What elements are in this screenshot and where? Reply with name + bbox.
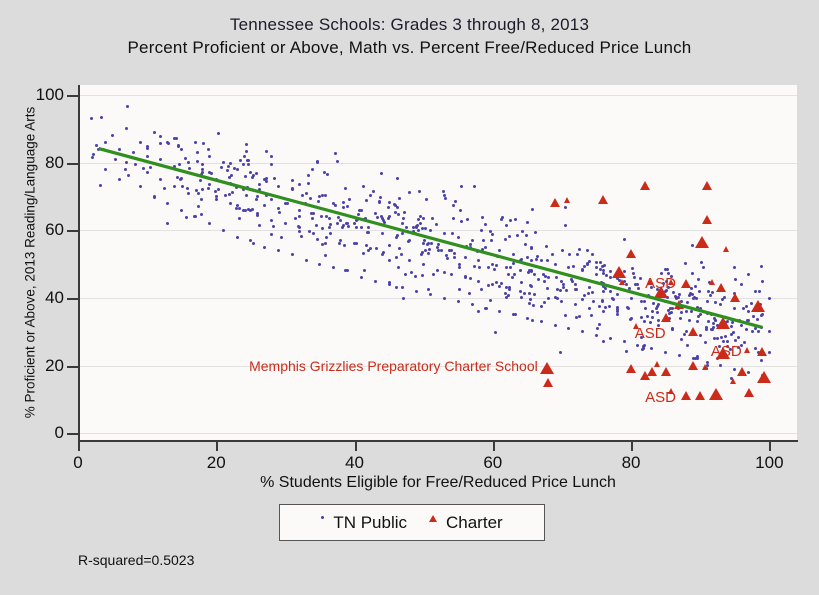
- data-point-tn-public: [265, 180, 268, 183]
- data-point-tn-public: [388, 281, 391, 284]
- x-tick-label: 100: [739, 453, 799, 473]
- data-point-tn-public: [533, 293, 536, 296]
- data-point-tn-public: [482, 239, 485, 242]
- data-point-tn-public: [511, 276, 514, 279]
- data-point-tn-public: [236, 236, 239, 239]
- data-point-tn-public: [491, 233, 494, 236]
- data-point-tn-public: [202, 142, 205, 145]
- data-point-tn-public: [484, 246, 487, 249]
- data-point-tn-public: [324, 194, 327, 197]
- data-point-tn-public: [134, 163, 137, 166]
- data-point-tn-public: [730, 325, 733, 328]
- data-point-tn-public: [757, 330, 760, 333]
- data-point-tn-public: [602, 290, 605, 293]
- data-point-tn-public: [498, 310, 501, 313]
- data-point-tn-public: [602, 269, 605, 272]
- data-point-charter: [674, 300, 684, 309]
- data-point-tn-public: [367, 231, 370, 234]
- data-point-tn-public: [602, 340, 605, 343]
- data-point-tn-public: [526, 317, 529, 320]
- data-point-tn-public: [481, 216, 484, 219]
- chart-title: Tennessee Schools: Grades 3 through 8, 2…: [0, 14, 819, 36]
- data-point-tn-public: [372, 190, 375, 193]
- data-point-tn-public: [609, 290, 612, 293]
- data-point-tn-public: [270, 163, 273, 166]
- data-point-charter: [550, 198, 560, 207]
- data-point-tn-public: [740, 283, 743, 286]
- data-point-tn-public: [422, 242, 425, 245]
- data-point-tn-public: [309, 197, 312, 200]
- data-point-tn-public: [719, 364, 722, 367]
- data-point-tn-public: [464, 256, 467, 259]
- data-point-tn-public: [756, 318, 759, 321]
- data-point-tn-public: [623, 238, 626, 241]
- data-point-tn-public: [745, 305, 748, 308]
- data-point-tn-public: [513, 273, 516, 276]
- data-point-tn-public: [437, 243, 440, 246]
- data-point-tn-public: [628, 287, 631, 290]
- data-point-tn-public: [737, 336, 740, 339]
- data-point-tn-public: [554, 324, 557, 327]
- data-point-tn-public: [476, 250, 479, 253]
- data-point-tn-public: [256, 214, 259, 217]
- data-point-tn-public: [761, 280, 764, 283]
- data-point-charter: [744, 388, 754, 397]
- data-point-tn-public: [555, 276, 558, 279]
- data-point-tn-public: [646, 315, 649, 318]
- data-point-charter: [681, 279, 691, 288]
- data-point-tn-public: [362, 185, 365, 188]
- y-axis-tick: [67, 230, 78, 232]
- data-point-charter: [543, 378, 553, 387]
- data-point-tn-public: [595, 266, 598, 269]
- data-point-tn-public: [184, 157, 187, 160]
- data-point-tn-public: [208, 183, 211, 186]
- data-point-tn-public: [509, 219, 512, 222]
- data-point-tn-public: [495, 264, 498, 267]
- data-point-tn-public: [265, 150, 268, 153]
- data-point-tn-public: [731, 321, 734, 324]
- data-point-tn-public: [491, 283, 494, 286]
- data-point-tn-public: [258, 224, 261, 227]
- chart-title-block: Tennessee Schools: Grades 3 through 8, 2…: [0, 14, 819, 60]
- data-point-tn-public: [625, 350, 628, 353]
- data-point-tn-public: [222, 161, 225, 164]
- data-point-tn-public: [754, 290, 757, 293]
- data-point-tn-public: [346, 205, 349, 208]
- data-point-tn-public: [598, 305, 601, 308]
- data-point-tn-public: [664, 268, 667, 271]
- data-point-tn-public: [719, 303, 722, 306]
- data-point-tn-public: [286, 202, 289, 205]
- data-point-tn-public: [709, 294, 712, 297]
- data-point-tn-public: [360, 276, 363, 279]
- data-point-tn-public: [443, 271, 446, 274]
- x-tick-label: 40: [325, 453, 385, 473]
- y-axis-tick: [67, 298, 78, 300]
- data-point-tn-public: [421, 274, 424, 277]
- data-point-tn-public: [342, 224, 345, 227]
- data-point-tn-public: [369, 247, 372, 250]
- data-point-tn-public: [576, 253, 579, 256]
- data-point-tn-public: [453, 252, 456, 255]
- data-point-charter: [619, 279, 625, 285]
- data-point-tn-public: [459, 209, 462, 212]
- x-axis-tick: [493, 441, 495, 451]
- data-point-tn-public: [265, 177, 268, 180]
- data-point-tn-public: [505, 224, 508, 227]
- data-point-tn-public: [356, 218, 359, 221]
- data-point-tn-public: [546, 259, 549, 262]
- data-point-tn-public: [320, 215, 323, 218]
- data-point-tn-public: [365, 199, 368, 202]
- data-point-tn-public: [375, 247, 378, 250]
- data-point-tn-public: [458, 266, 461, 269]
- data-point-tn-public: [336, 222, 339, 225]
- data-point-tn-public: [581, 298, 584, 301]
- data-point-tn-public: [379, 196, 382, 199]
- data-point-tn-public: [374, 280, 377, 283]
- data-point-charter: [757, 371, 771, 383]
- data-point-tn-public: [159, 178, 162, 181]
- data-point-tn-public: [153, 131, 156, 134]
- data-point-tn-public: [173, 185, 176, 188]
- data-point-tn-public: [586, 249, 589, 252]
- data-point-tn-public: [696, 320, 699, 323]
- data-point-tn-public: [691, 272, 694, 275]
- data-point-tn-public: [200, 198, 203, 201]
- data-point-tn-public: [601, 300, 604, 303]
- data-point-tn-public: [201, 163, 204, 166]
- data-point-tn-public: [435, 223, 438, 226]
- data-point-tn-public: [494, 331, 497, 334]
- data-point-tn-public: [367, 226, 370, 229]
- data-point-tn-public: [334, 152, 337, 155]
- data-point-tn-public: [450, 273, 453, 276]
- data-point-tn-public: [632, 272, 635, 275]
- data-point-tn-public: [590, 314, 593, 317]
- data-point-tn-public: [490, 239, 493, 242]
- data-point-charter: [626, 249, 636, 258]
- data-point-tn-public: [291, 253, 294, 256]
- data-point-tn-public: [394, 204, 397, 207]
- data-point-tn-public: [489, 299, 492, 302]
- data-point-tn-public: [388, 259, 391, 262]
- data-point-tn-public: [521, 230, 524, 233]
- data-point-tn-public: [228, 193, 231, 196]
- data-point-tn-public: [688, 319, 691, 322]
- data-point-tn-public: [468, 292, 471, 295]
- data-point-tn-public: [387, 217, 390, 220]
- data-point-tn-public: [680, 338, 683, 341]
- data-point-tn-public: [201, 188, 204, 191]
- data-point-tn-public: [498, 285, 501, 288]
- y-axis-tick: [67, 95, 78, 97]
- data-point-tn-public: [578, 248, 581, 251]
- data-point-tn-public: [146, 145, 149, 148]
- data-point-tn-public: [545, 245, 548, 248]
- data-point-tn-public: [344, 187, 347, 190]
- data-point-charter: [540, 362, 554, 374]
- data-point-charter: [688, 327, 698, 336]
- data-point-tn-public: [125, 161, 128, 164]
- data-point-tn-public: [424, 249, 427, 252]
- data-point-tn-public: [629, 318, 632, 321]
- data-point-tn-public: [458, 288, 461, 291]
- data-point-charter: [716, 317, 730, 329]
- data-point-tn-public: [324, 254, 327, 257]
- data-point-tn-public: [543, 280, 546, 283]
- data-point-tn-public: [742, 307, 745, 310]
- data-point-tn-public: [178, 163, 181, 166]
- y-axis-tick: [67, 433, 78, 435]
- data-point-tn-public: [655, 307, 658, 310]
- data-point-tn-public: [187, 161, 190, 164]
- data-point-tn-public: [338, 242, 341, 245]
- data-point-tn-public: [591, 253, 594, 256]
- annotation-asd: ASD: [711, 343, 742, 360]
- data-point-tn-public: [348, 198, 351, 201]
- data-point-tn-public: [308, 230, 311, 233]
- data-point-tn-public: [417, 218, 420, 221]
- data-point-tn-public: [406, 230, 409, 233]
- data-point-tn-public: [734, 339, 737, 342]
- data-point-tn-public: [382, 251, 385, 254]
- data-point-charter: [695, 391, 705, 400]
- data-point-tn-public: [291, 179, 294, 182]
- data-point-tn-public: [599, 261, 602, 264]
- data-point-tn-public: [153, 196, 156, 199]
- data-point-tn-public: [639, 277, 642, 280]
- data-point-charter: [681, 391, 691, 400]
- data-point-tn-public: [429, 293, 432, 296]
- data-point-tn-public: [705, 311, 708, 314]
- data-point-tn-public: [713, 337, 716, 340]
- data-point-tn-public: [609, 337, 612, 340]
- data-point-tn-public: [697, 278, 700, 281]
- data-point-tn-public: [196, 160, 199, 163]
- data-point-tn-public: [176, 176, 179, 179]
- data-point-tn-public: [181, 185, 184, 188]
- data-point-tn-public: [758, 290, 761, 293]
- data-point-tn-public: [185, 216, 188, 219]
- data-point-tn-public: [194, 141, 197, 144]
- data-point-tn-public: [469, 246, 472, 249]
- data-point-tn-public: [575, 288, 578, 291]
- data-point-tn-public: [197, 205, 200, 208]
- data-point-tn-public: [520, 281, 523, 284]
- data-point-tn-public: [273, 177, 276, 180]
- data-point-tn-public: [398, 247, 401, 250]
- data-point-tn-public: [180, 209, 183, 212]
- data-point-tn-public: [326, 173, 329, 176]
- data-point-tn-public: [360, 226, 363, 229]
- data-point-tn-public: [321, 227, 324, 230]
- data-point-tn-public: [568, 253, 571, 256]
- data-point-tn-public: [402, 217, 405, 220]
- data-point-tn-public: [403, 211, 406, 214]
- data-point-tn-public: [487, 266, 490, 269]
- data-point-tn-public: [514, 313, 517, 316]
- data-point-tn-public: [430, 242, 433, 245]
- data-point-tn-public: [485, 307, 488, 310]
- data-point-tn-public: [523, 292, 526, 295]
- data-point-tn-public: [616, 293, 619, 296]
- data-point-tn-public: [721, 298, 724, 301]
- data-point-tn-public: [265, 194, 268, 197]
- data-point-tn-public: [362, 218, 365, 221]
- data-point-tn-public: [298, 230, 301, 233]
- data-point-tn-public: [531, 319, 534, 322]
- data-point-tn-public: [704, 341, 707, 344]
- data-point-tn-public: [747, 371, 750, 374]
- data-point-tn-public: [179, 178, 182, 181]
- data-point-tn-public: [747, 273, 750, 276]
- data-point-tn-public: [311, 168, 314, 171]
- data-point-tn-public: [481, 248, 484, 251]
- data-point-tn-public: [376, 216, 379, 219]
- data-point-tn-public: [444, 197, 447, 200]
- data-point-tn-public: [132, 151, 135, 154]
- x-axis-tick: [355, 441, 357, 451]
- data-point-tn-public: [525, 234, 528, 237]
- data-point-tn-public: [307, 174, 310, 177]
- x-axis-label: % Students Eligible for Free/Reduced Pri…: [78, 474, 798, 492]
- data-point-tn-public: [528, 292, 531, 295]
- data-point-charter: [640, 371, 650, 380]
- data-point-tn-public: [745, 328, 748, 331]
- data-point-tn-public: [586, 263, 589, 266]
- data-point-tn-public: [697, 315, 700, 318]
- data-point-tn-public: [277, 185, 280, 188]
- data-point-tn-public: [644, 307, 647, 310]
- data-point-tn-public: [255, 172, 258, 175]
- data-point-tn-public: [514, 218, 517, 221]
- data-point-tn-public: [547, 297, 550, 300]
- data-point-tn-public: [378, 201, 381, 204]
- data-point-tn-public: [270, 219, 273, 222]
- data-point-tn-public: [159, 158, 162, 161]
- data-point-tn-public: [656, 311, 659, 314]
- data-point-tn-public: [395, 286, 398, 289]
- data-point-tn-public: [92, 153, 95, 156]
- data-point-tn-public: [633, 276, 636, 279]
- data-point-tn-public: [429, 229, 432, 232]
- data-point-tn-public: [400, 253, 403, 256]
- data-point-tn-public: [242, 188, 245, 191]
- data-point-tn-public: [649, 321, 652, 324]
- data-point-tn-public: [565, 289, 568, 292]
- data-point-tn-public: [714, 301, 717, 304]
- data-point-tn-public: [208, 155, 211, 158]
- y-axis-tick: [67, 163, 78, 165]
- data-point-tn-public: [600, 281, 603, 284]
- data-point-tn-public: [706, 300, 709, 303]
- data-point-tn-public: [551, 253, 554, 256]
- data-point-tn-public: [529, 298, 532, 301]
- data-point-tn-public: [559, 351, 562, 354]
- data-point-tn-public: [640, 300, 643, 303]
- data-point-tn-public: [567, 266, 570, 269]
- data-point-tn-public: [324, 242, 327, 245]
- data-point-tn-public: [512, 262, 515, 265]
- data-point-tn-public: [529, 284, 532, 287]
- data-point-tn-public: [454, 200, 457, 203]
- data-point-tn-public: [227, 165, 230, 168]
- data-point-tn-public: [353, 222, 356, 225]
- data-point-tn-public: [427, 288, 430, 291]
- data-point-tn-public: [540, 259, 543, 262]
- data-point-tn-public: [768, 330, 771, 333]
- data-point-tn-public: [738, 319, 741, 322]
- data-point-tn-public: [363, 269, 366, 272]
- data-point-tn-public: [556, 297, 559, 300]
- data-point-tn-public: [507, 273, 510, 276]
- data-point-tn-public: [616, 313, 619, 316]
- data-point-tn-public: [493, 268, 496, 271]
- data-point-tn-public: [167, 142, 170, 145]
- y-axis-tick: [67, 366, 78, 368]
- data-point-tn-public: [694, 285, 697, 288]
- data-point-tn-public: [139, 185, 142, 188]
- data-point-tn-public: [724, 335, 727, 338]
- data-point-tn-public: [251, 176, 254, 179]
- data-point-tn-public: [222, 229, 225, 232]
- data-point-tn-public: [707, 320, 710, 323]
- data-point-tn-public: [124, 168, 127, 171]
- data-point-tn-public: [355, 242, 358, 245]
- data-point-tn-public: [440, 249, 443, 252]
- data-point-tn-public: [595, 334, 598, 337]
- data-point-tn-public: [263, 204, 266, 207]
- data-point-charter: [744, 347, 750, 353]
- data-point-tn-public: [159, 142, 162, 145]
- data-point-tn-public: [208, 222, 211, 225]
- data-point-tn-public: [408, 191, 411, 194]
- data-point-tn-public: [270, 233, 273, 236]
- data-point-tn-public: [477, 280, 480, 283]
- data-point-tn-public: [464, 275, 467, 278]
- data-point-charter: [723, 246, 729, 252]
- data-point-tn-public: [388, 201, 391, 204]
- data-point-tn-public: [512, 253, 515, 256]
- data-point-tn-public: [495, 281, 498, 284]
- data-point-tn-public: [226, 169, 229, 172]
- data-point-tn-public: [200, 213, 203, 216]
- data-point-tn-public: [477, 310, 480, 313]
- data-point-tn-public: [477, 259, 480, 262]
- data-point-tn-public: [664, 351, 667, 354]
- data-point-tn-public: [561, 249, 564, 252]
- data-point-tn-public: [417, 229, 420, 232]
- data-point-tn-public: [404, 273, 407, 276]
- data-point-tn-public: [471, 303, 474, 306]
- data-point-charter: [751, 300, 765, 312]
- data-point-tn-public: [436, 269, 439, 272]
- data-point-tn-public: [186, 187, 189, 190]
- data-point-tn-public: [466, 218, 469, 221]
- data-point-tn-public: [146, 155, 149, 158]
- data-point-tn-public: [595, 273, 598, 276]
- data-point-tn-public: [666, 268, 669, 271]
- data-point-tn-public: [698, 290, 701, 293]
- data-point-tn-public: [572, 265, 575, 268]
- data-point-tn-public: [231, 191, 234, 194]
- data-point-tn-public: [446, 257, 449, 260]
- data-point-tn-public: [743, 341, 746, 344]
- data-point-tn-public: [199, 179, 202, 182]
- data-point-tn-public: [564, 314, 567, 317]
